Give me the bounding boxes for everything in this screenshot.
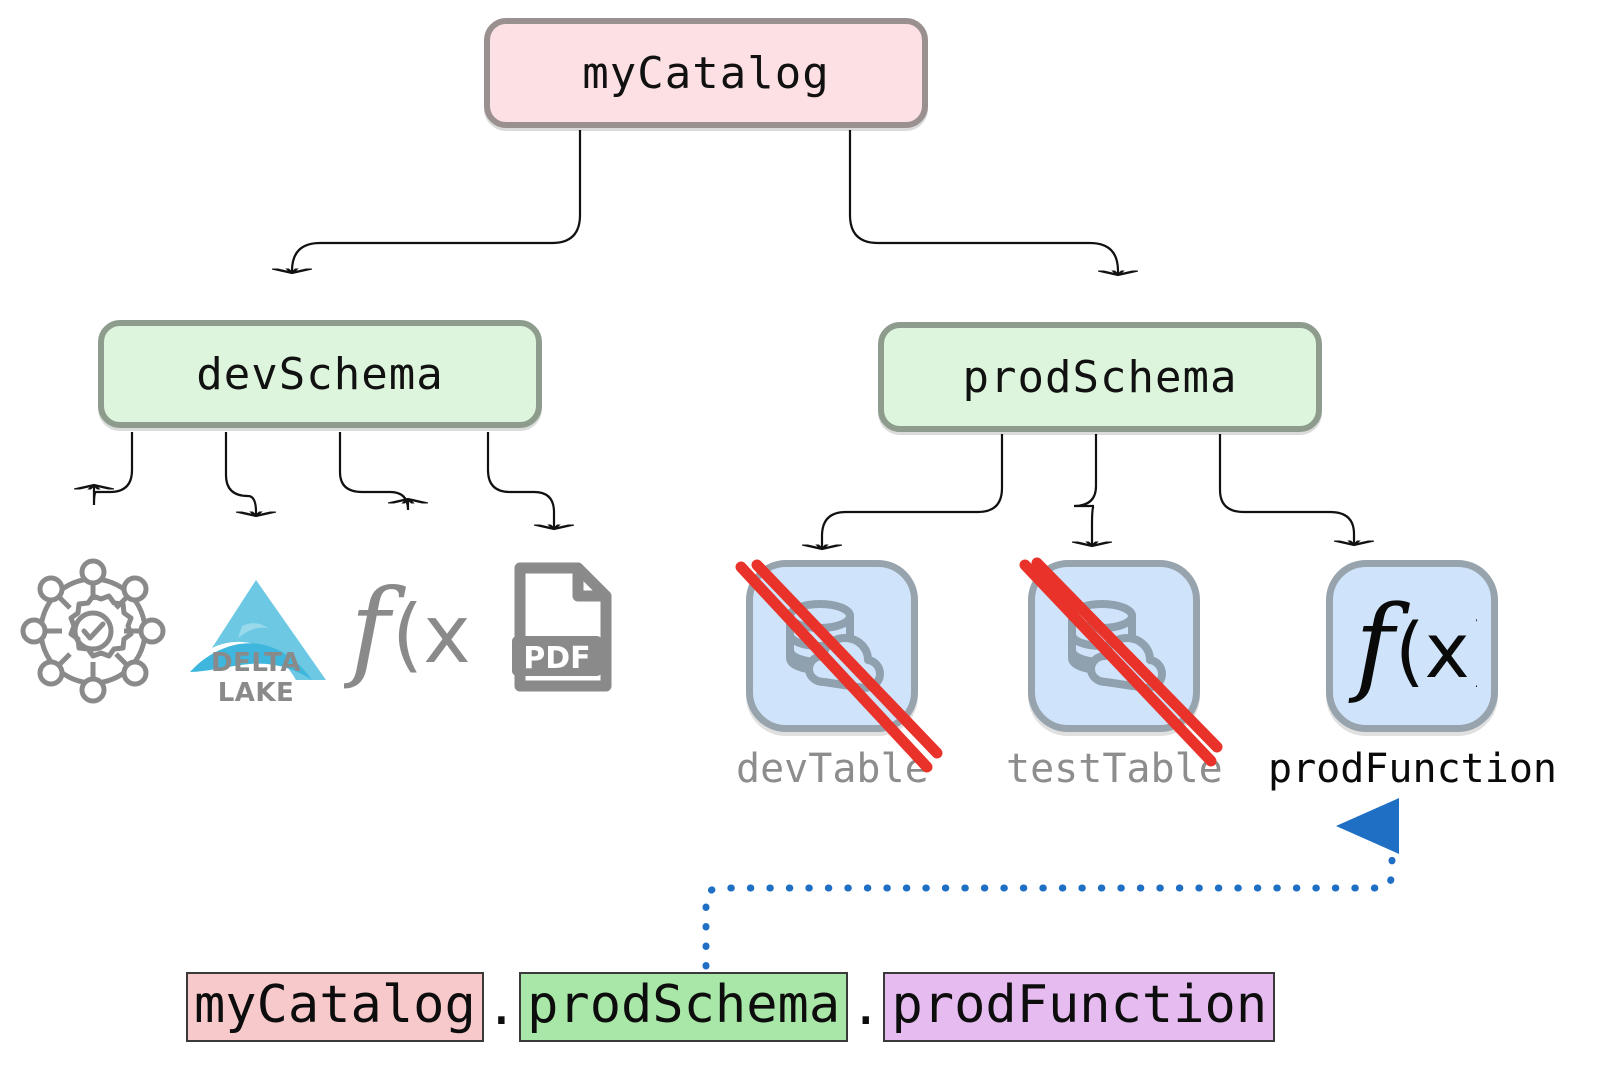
delta-lake-icon: DELTA LAKE — [176, 562, 336, 702]
schema-node-prod[interactable]: prodSchema — [878, 322, 1322, 432]
asset-testtable[interactable]: testTable — [1006, 560, 1223, 792]
delta-lake-wordmark: DELTA LAKE — [176, 648, 336, 708]
schema-node-prod-label: prodSchema — [963, 352, 1238, 403]
fully-qualified-name: myCatalog . prodSchema . prodFunction — [186, 972, 1275, 1042]
fqn-function-segment[interactable]: prodFunction — [883, 972, 1275, 1042]
database-cloud-icon[interactable] — [746, 560, 918, 732]
svg-text:(x): (x) — [392, 588, 474, 681]
diagram-canvas: myCatalog devSchema prodSchema — [0, 0, 1600, 1083]
fqn-catalog-segment[interactable]: myCatalog — [186, 972, 484, 1042]
svg-text:(x): (x) — [1395, 606, 1477, 695]
function-icon: f (x) — [344, 562, 474, 702]
connector-layer — [0, 0, 1600, 1083]
registered-model-icon — [18, 556, 168, 706]
asset-devtable[interactable]: devTable — [736, 560, 929, 792]
database-cloud-icon[interactable] — [1028, 560, 1200, 732]
fqn-separator-2: . — [848, 977, 883, 1037]
function-icon[interactable]: f (x) — [1326, 560, 1498, 732]
schema-node-dev[interactable]: devSchema — [98, 320, 542, 428]
fqn-schema-segment[interactable]: prodSchema — [519, 972, 848, 1042]
catalog-node-label: myCatalog — [582, 48, 829, 99]
schema-node-dev-label: devSchema — [196, 349, 443, 400]
pdf-file-icon: PDF — [508, 562, 618, 692]
catalog-node[interactable]: myCatalog — [484, 18, 928, 128]
strikethrough-mark — [1005, 557, 1245, 787]
asset-prodfunction-label: prodFunction — [1268, 746, 1557, 792]
asset-prodfunction[interactable]: f (x) prodFunction — [1268, 560, 1557, 792]
pdf-label: PDF — [523, 641, 590, 676]
fqn-separator-1: . — [484, 977, 519, 1037]
strikethrough-mark — [723, 557, 963, 787]
